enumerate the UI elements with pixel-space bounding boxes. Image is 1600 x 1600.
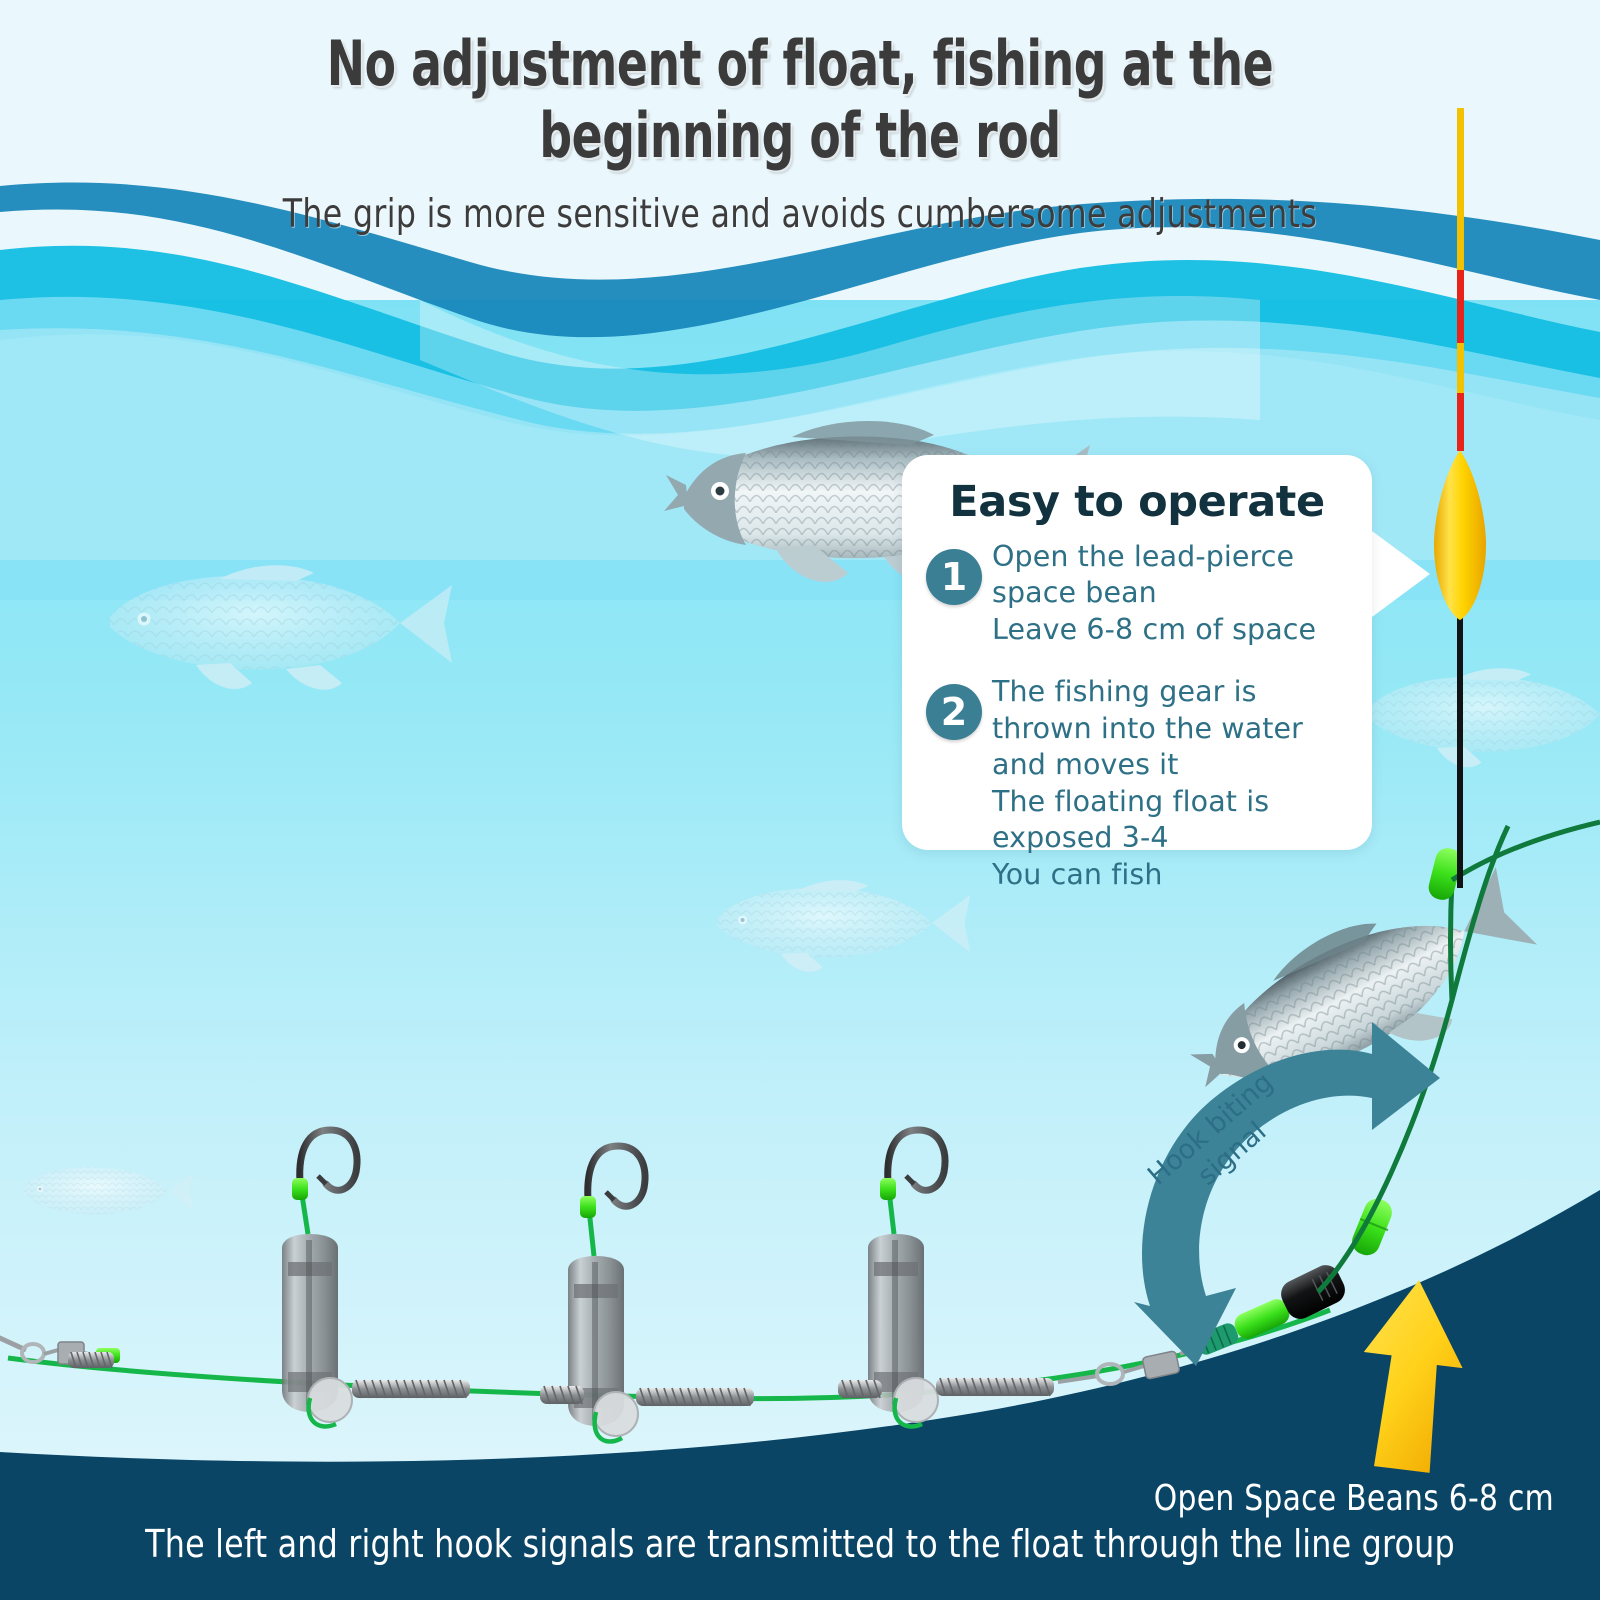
page-title: No adjustment of float, fishing at the b… (144, 28, 1456, 172)
step-number-badge: 2 (926, 684, 982, 740)
bottom-caption: The left and right hook signals are tran… (56, 1522, 1544, 1566)
step-item: 1 Open the lead-pierce space bean Leave … (902, 527, 1372, 648)
step-item: 2 The fishing gear is thrown into the wa… (902, 648, 1372, 893)
header: No adjustment of float, fishing at the b… (0, 28, 1600, 172)
callout-title: Easy to operate (902, 455, 1372, 527)
step-text: The fishing gear is thrown into the wate… (992, 670, 1303, 893)
easy-to-operate-callout: Easy to operate 1 Open the lead-pierce s… (902, 455, 1372, 850)
open-space-beans-note: Open Space Beans 6-8 cm (1154, 1478, 1554, 1519)
infographic-canvas: No adjustment of float, fishing at the b… (0, 0, 1600, 1600)
step-number-badge: 1 (926, 549, 982, 605)
step-text: Open the lead-pierce space bean Leave 6-… (992, 535, 1316, 648)
callout-tail (1368, 528, 1430, 620)
page-subtitle: The grip is more sensitive and avoids cu… (80, 192, 1520, 237)
